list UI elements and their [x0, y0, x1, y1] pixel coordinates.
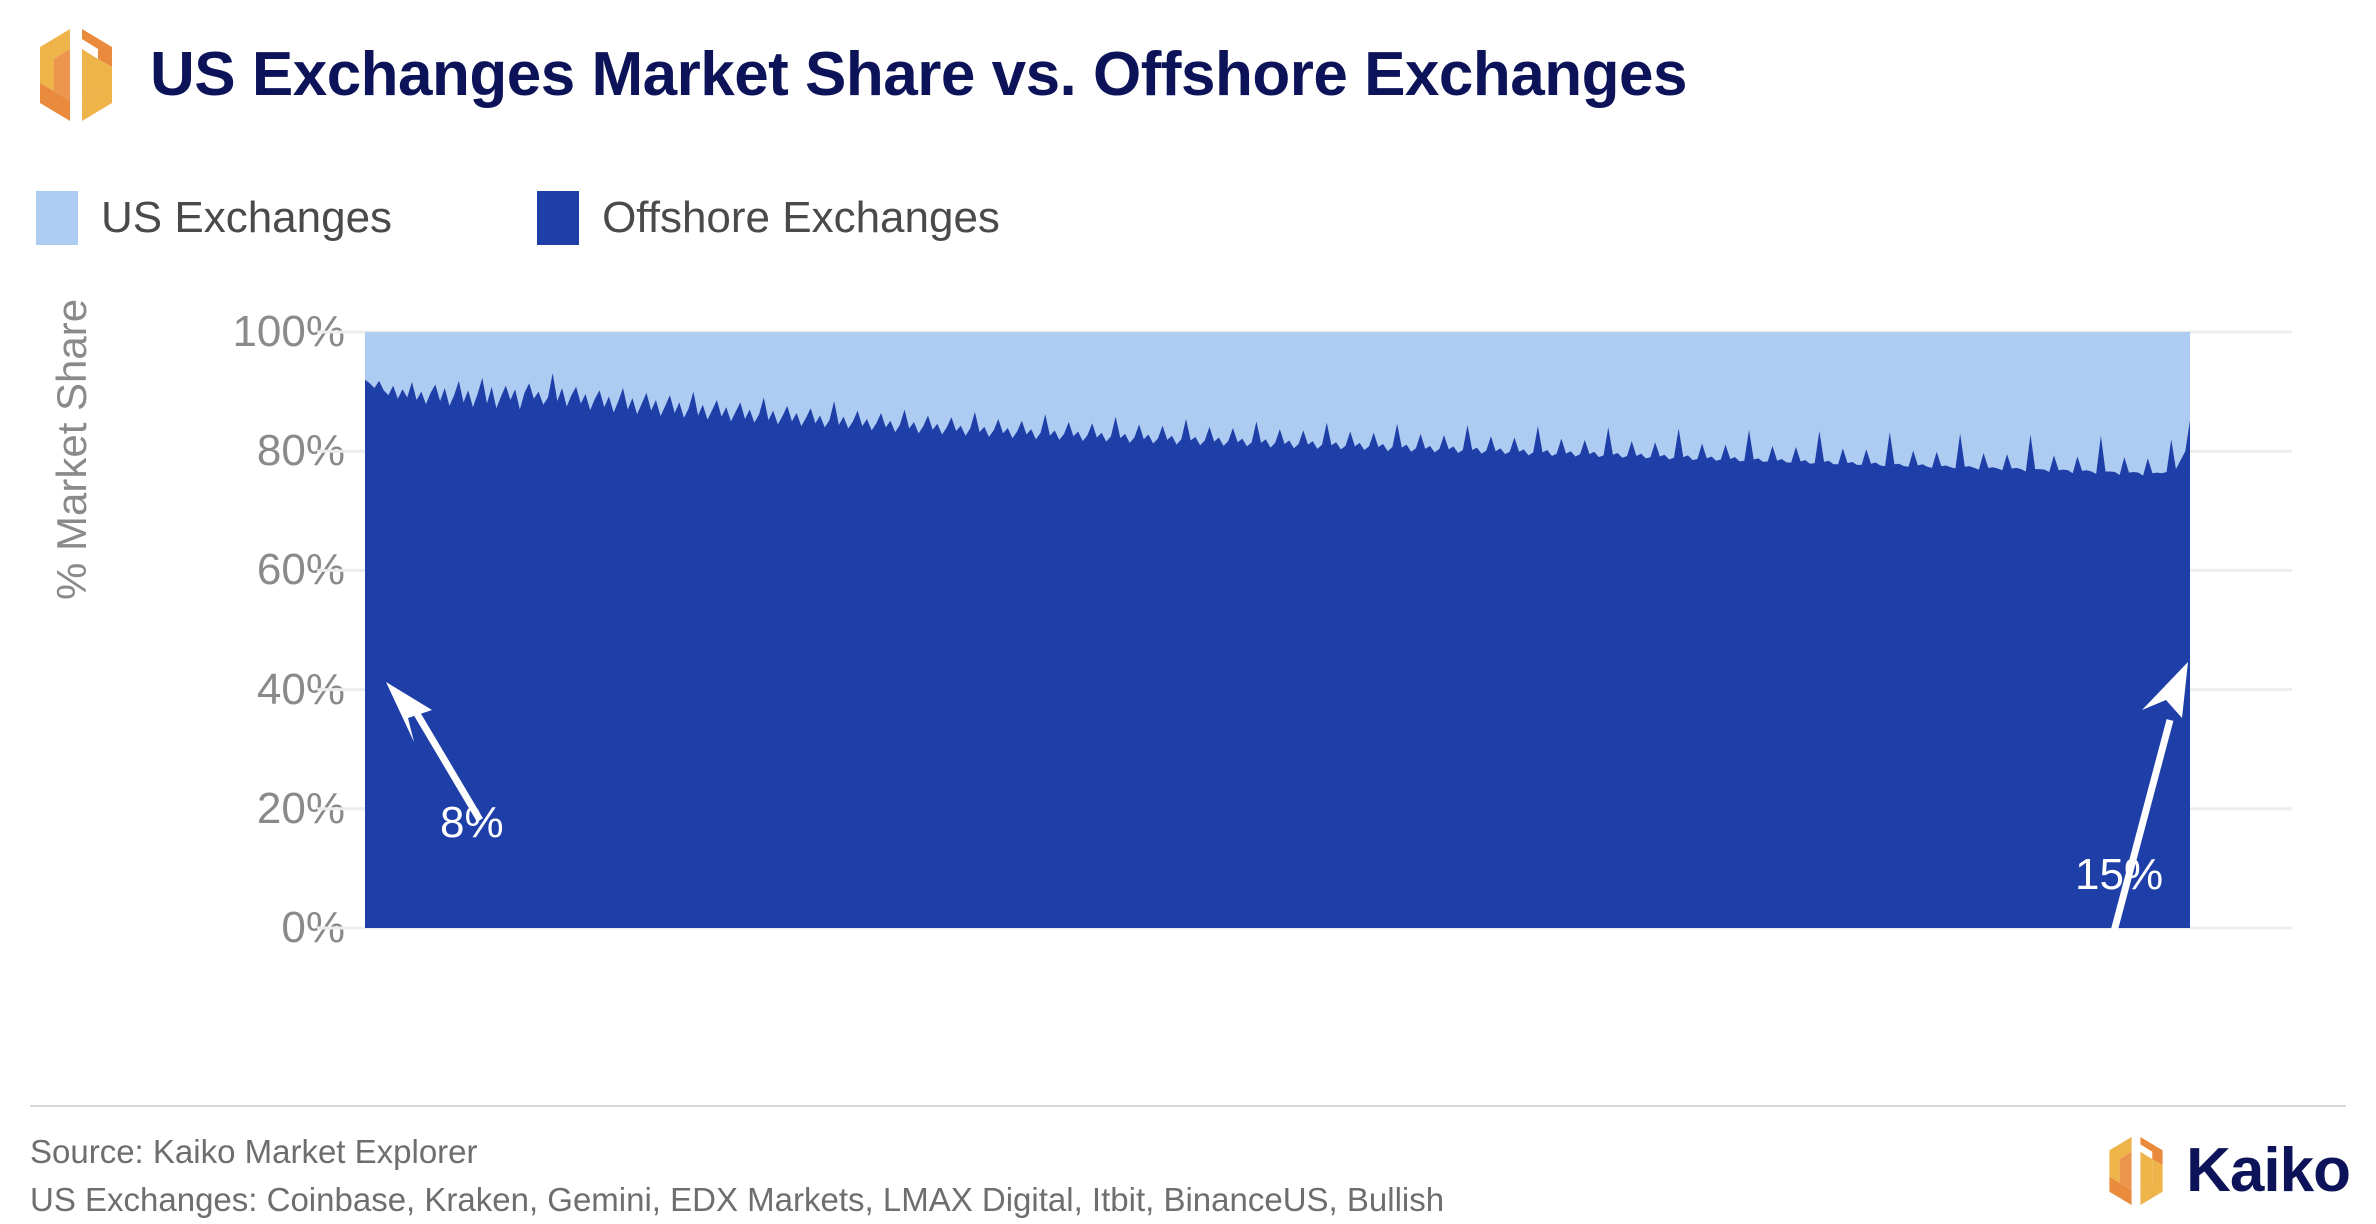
legend-swatch-offshore-exchanges — [537, 191, 579, 245]
legend-swatch-us-exchanges — [36, 191, 78, 245]
footer-source-line: Source: Kaiko Market Explorer — [30, 1128, 1830, 1176]
stacked-area-chart — [0, 290, 2376, 1050]
kaiko-hexagon-logo-icon — [2102, 1134, 2170, 1208]
footer-brand: Kaiko — [2102, 1134, 2350, 1208]
footer-divider — [30, 1105, 2346, 1107]
chart-legend: US Exchanges Offshore Exchanges — [36, 190, 1000, 246]
legend-label-offshore-exchanges: Offshore Exchanges — [602, 193, 1000, 243]
page-title: US Exchanges Market Share vs. Offshore E… — [150, 42, 1687, 107]
footer-detail-line: US Exchanges: Coinbase, Kraken, Gemini, … — [30, 1176, 1830, 1224]
kaiko-hexagon-logo-icon — [30, 25, 122, 125]
legend-item-us-exchanges[interactable]: US Exchanges — [36, 191, 392, 245]
chart-annotation-8pct: 8% — [440, 798, 504, 848]
chart-annotation-15pct: 15% — [2075, 850, 2163, 900]
brand-wordmark: Kaiko — [2186, 1140, 2350, 1202]
legend-item-offshore-exchanges[interactable]: Offshore Exchanges — [537, 191, 1000, 245]
page-header: US Exchanges Market Share vs. Offshore E… — [0, 0, 2376, 150]
chart-page: US Exchanges Market Share vs. Offshore E… — [0, 0, 2376, 1224]
legend-label-us-exchanges: US Exchanges — [101, 193, 392, 243]
chart-plot-region: % Market Share 0%20%40%60%80%100% Jan, 2… — [0, 290, 2376, 1050]
footer-notes: Source: Kaiko Market Explorer US Exchang… — [30, 1128, 1830, 1224]
